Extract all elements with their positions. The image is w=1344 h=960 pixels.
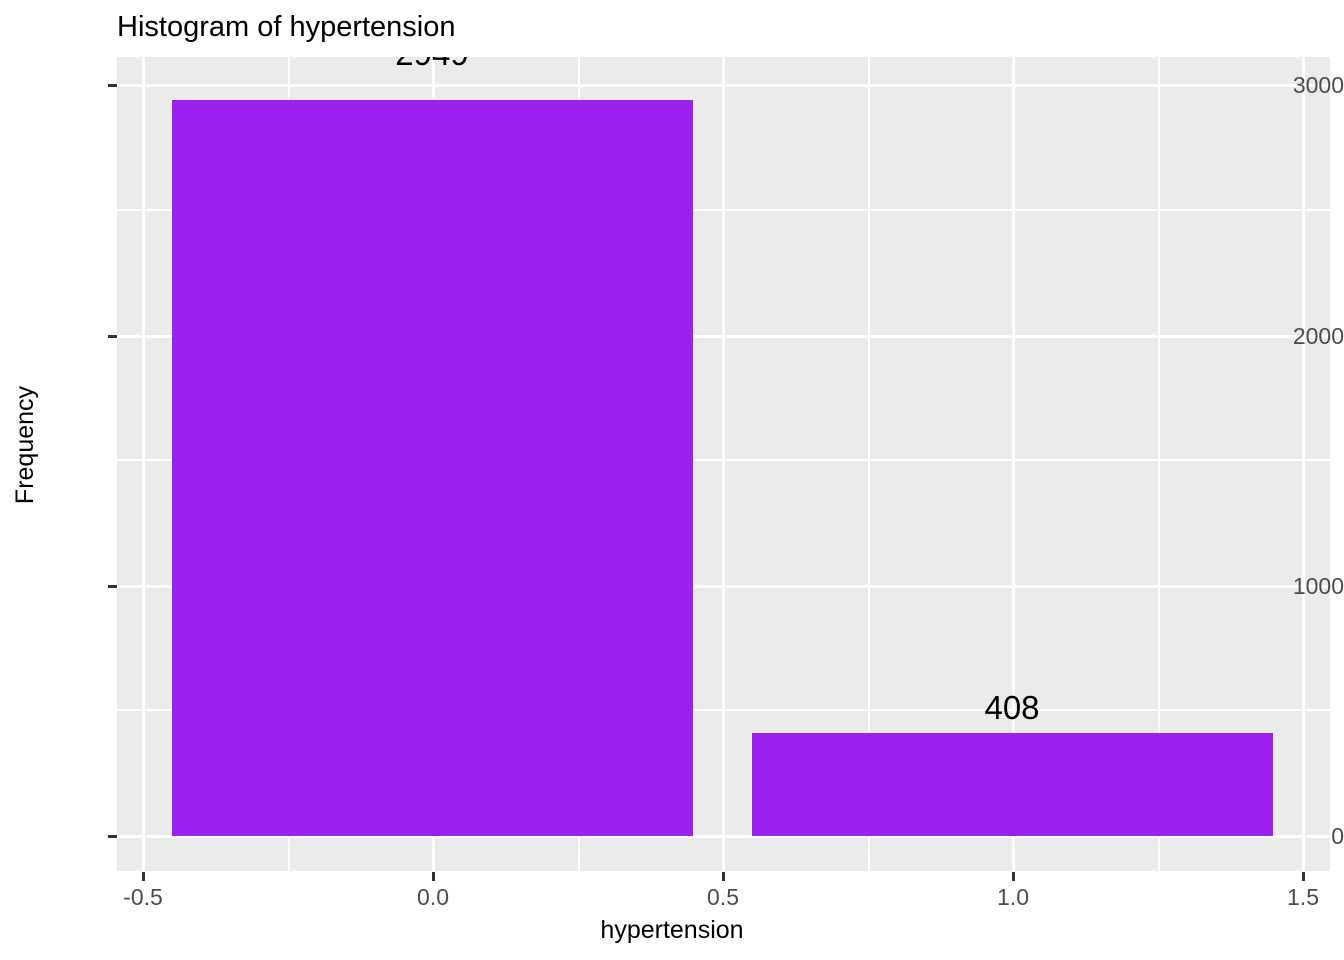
tick-mark-x-n05 xyxy=(142,872,145,881)
tick-mark-x-10 xyxy=(1012,872,1015,881)
tick-mark-y-1000 xyxy=(108,585,117,588)
chart-title: Histogram of hypertension xyxy=(117,10,456,44)
tick-label-x-05: 0.5 xyxy=(707,884,739,910)
tick-mark-y-2000 xyxy=(108,335,117,338)
tick-label-y-2000: 2000 xyxy=(1246,323,1344,349)
tick-mark-y-3000 xyxy=(108,84,117,87)
bar-1[interactable] xyxy=(752,733,1273,836)
gridline-major-x-n05 xyxy=(142,57,145,871)
tick-mark-x-00 xyxy=(432,872,435,881)
tick-label-y-1000: 1000 xyxy=(1246,573,1344,599)
gridline-major-x-15 xyxy=(1302,57,1305,871)
tick-label-x-15: 1.5 xyxy=(1287,884,1319,910)
bar-value-label-1: 408 xyxy=(984,689,1039,727)
tick-mark-x-05 xyxy=(722,872,725,881)
y-axis-title: Frequency xyxy=(10,345,40,545)
tick-mark-x-15 xyxy=(1302,872,1305,881)
tick-label-y-3000: 3000 xyxy=(1246,72,1344,98)
bar-0[interactable] xyxy=(172,100,693,836)
chart-container: Histogram of hypertension 2949 408 xyxy=(0,0,1344,960)
plot-panel: 2949 408 xyxy=(117,57,1330,871)
tick-label-x-10: 1.0 xyxy=(997,884,1029,910)
tick-label-y-0: 0 xyxy=(1246,823,1344,849)
gridline-major-x-05 xyxy=(722,57,725,871)
tick-label-x-00: 0.0 xyxy=(417,884,449,910)
x-axis-title: hypertension xyxy=(0,915,1344,945)
bar-value-label-0: 2949 xyxy=(395,57,468,73)
tick-label-x-n05: -0.5 xyxy=(123,884,163,910)
tick-mark-y-0 xyxy=(108,835,117,838)
